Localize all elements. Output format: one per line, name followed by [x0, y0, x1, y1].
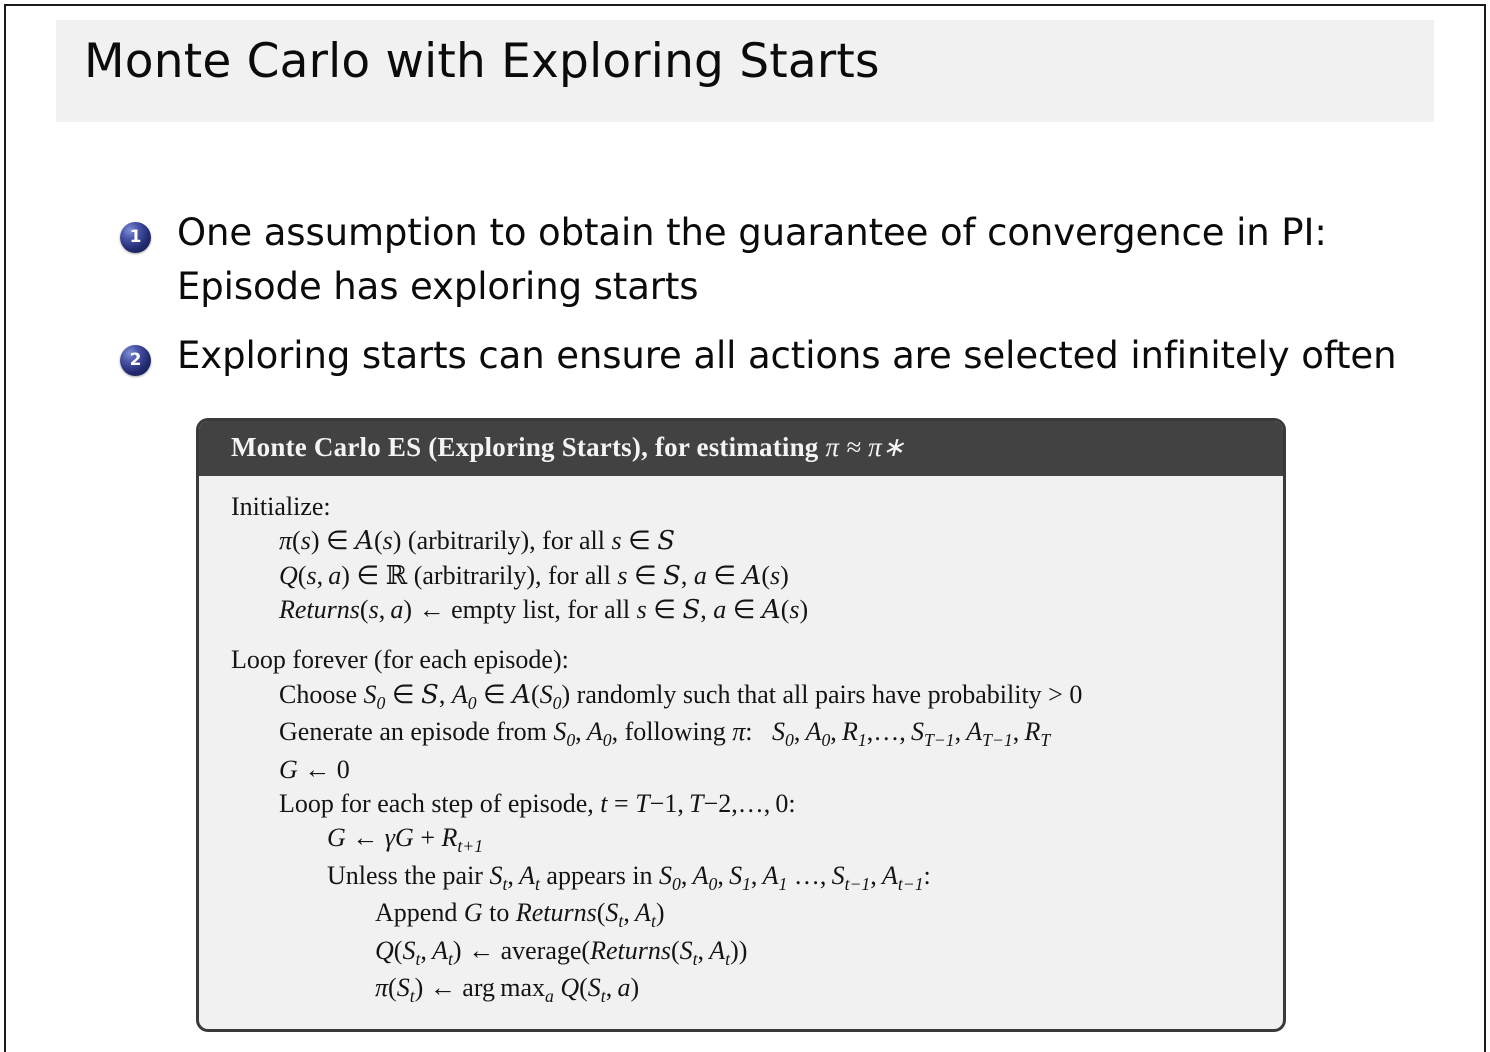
pseudocode-line: π(St) ← arg maxa Q(St, a)	[231, 971, 1283, 1009]
list-item: 2 Exploring starts can ensure all action…	[120, 329, 1420, 383]
algorithm-title: Monte Carlo ES (Exploring Starts), for e…	[231, 432, 819, 462]
pseudocode-line: Initialize:	[231, 490, 1283, 524]
numbered-bullet-icon: 1	[120, 222, 151, 253]
spacer	[231, 627, 1283, 643]
pseudocode-line: G ← 0	[231, 753, 1283, 787]
list-item: 1 One assumption to obtain the guarantee…	[120, 206, 1420, 313]
slide: Monte Carlo with Exploring Starts 1 One …	[0, 0, 1490, 1052]
page-border-right	[1484, 4, 1486, 1052]
numbered-bullet-icon: 2	[120, 345, 151, 376]
bullet-list: 1 One assumption to obtain the guarantee…	[120, 206, 1420, 399]
pseudocode-line: Generate an episode from S0, A0, followi…	[231, 715, 1283, 753]
list-item-text: One assumption to obtain the guarantee o…	[177, 206, 1327, 313]
algorithm-box: Monte Carlo ES (Exploring Starts), for e…	[196, 418, 1286, 1032]
pseudocode-line: Q(s, a) ∈ ℝ (arbitrarily), for all s ∈ S…	[231, 559, 1283, 593]
algorithm-box-body: Initialize: π(s) ∈ A(s) (arbitrarily), f…	[199, 476, 1283, 1029]
list-item-text: Exploring starts can ensure all actions …	[177, 329, 1396, 383]
pseudocode-line: Loop for each step of episode, t = T−1, …	[231, 787, 1283, 821]
pseudocode-line: G ← γG + Rt+1	[231, 821, 1283, 859]
pseudocode-line: Q(St, At) ← average(Returns(St, At))	[231, 934, 1283, 972]
list-item-line: Exploring starts can ensure all actions …	[177, 329, 1396, 383]
page-title: Monte Carlo with Exploring Starts	[84, 34, 880, 89]
pseudocode-line: Unless the pair St, At appears in S0, A0…	[231, 859, 1283, 897]
algorithm-box-header: Monte Carlo ES (Exploring Starts), for e…	[199, 421, 1283, 476]
pseudocode-line: Loop forever (for each episode):	[231, 643, 1283, 677]
algorithm-title-math: π ≈ π∗	[825, 432, 904, 462]
page-border-top	[4, 4, 1486, 6]
list-item-line: Episode has exploring starts	[177, 260, 1327, 314]
pseudocode-line: Returns(s, a) ← empty list, for all s ∈ …	[231, 593, 1283, 627]
pseudocode-line: Choose S0 ∈ S, A0 ∈ A(S0) randomly such …	[231, 678, 1283, 716]
list-item-line: One assumption to obtain the guarantee o…	[177, 206, 1327, 260]
pseudocode-line: π(s) ∈ A(s) (arbitrarily), for all s ∈ S	[231, 524, 1283, 558]
page-border-left	[4, 4, 6, 1052]
pseudocode-line: Append G to Returns(St, At)	[231, 896, 1283, 934]
